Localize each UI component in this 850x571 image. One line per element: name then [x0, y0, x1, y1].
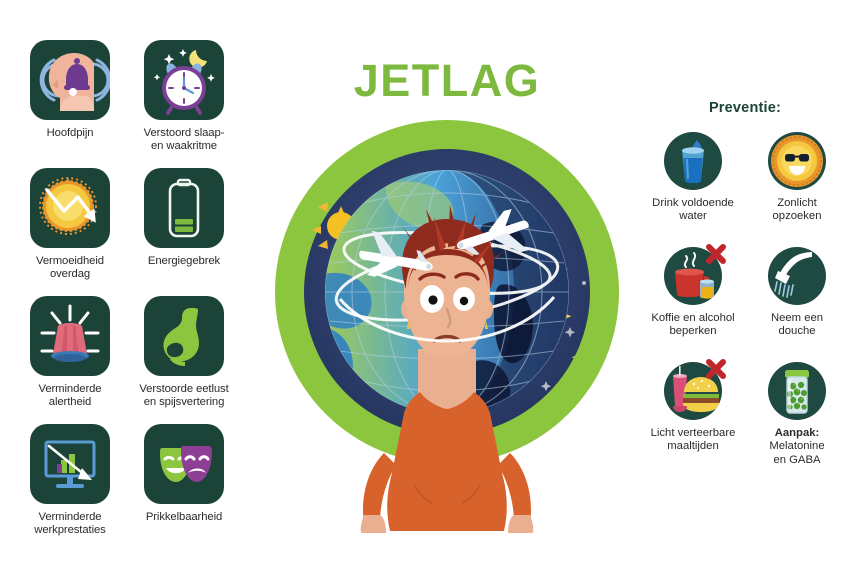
symptom-label: Vermoeidheid overdag: [20, 255, 120, 282]
red-x-icon: [704, 242, 728, 266]
prevention-label: Zonlicht opzoeken: [749, 197, 845, 224]
shower-icon: [768, 247, 826, 305]
tired-person-globe-illustration: [268, 113, 626, 533]
prevention-label: Koffie en alcohol beperken: [645, 312, 741, 339]
siren-light-icon: [30, 296, 110, 376]
symptom-label: Verstoorde eetlust en spijsvertering: [134, 383, 234, 410]
symptoms-grid: Hoofdpijn: [20, 40, 270, 540]
prevention-label: Licht verteerbare maaltijden: [645, 427, 741, 454]
symptom-label: Hoofdpijn: [20, 127, 120, 140]
prevention-grid: Drink voldoende water: [645, 132, 845, 480]
prevention-heading: Preventie:: [645, 100, 845, 116]
theatre-masks-icon: [144, 424, 224, 504]
stomach-icon: [144, 296, 224, 376]
prevention-item-douche[interactable]: Neem een douche: [749, 247, 845, 362]
prevention-item-drink-water[interactable]: Drink voldoende water: [645, 132, 741, 247]
prevention-section: Preventie: Drink vo: [645, 100, 845, 480]
prevention-label: Drink voldoende water: [645, 197, 741, 224]
sun-sunglasses-icon: [768, 132, 826, 190]
head-with-bell-icon: [30, 40, 110, 120]
prevention-label: Neem een douche: [749, 312, 845, 339]
prevention-item-koffie-alcohol[interactable]: Koffie en alcohol beperken: [645, 247, 741, 362]
prevention-item-licht-verteerbare-maaltijden[interactable]: Licht verteerbare maaltijden: [645, 362, 741, 480]
symptom-verminderde-werkprestaties[interactable]: Verminderde werkprestaties: [20, 424, 120, 552]
prevention-item-aanpak-supplementen[interactable]: Aanpak: Melatonine en GABA: [749, 362, 845, 480]
symptom-verstoord-slaapritme[interactable]: Verstoord slaap- en waakritme: [134, 40, 234, 168]
water-glass-icon: [664, 132, 722, 190]
symptom-label: Energiegebrek: [134, 255, 234, 268]
alarm-clock-night-icon: [144, 40, 224, 120]
monitor-declining-chart-icon: [30, 424, 110, 504]
coffee-alcohol-icon: [664, 247, 722, 305]
low-battery-icon: [144, 168, 224, 248]
center-hero-block: JETLAG: [262, 55, 632, 535]
infographic-canvas: Hoofdpijn: [0, 0, 850, 571]
supplement-jar-icon: [768, 362, 826, 420]
symptom-prikkelbaarheid[interactable]: Prikkelbaarheid: [134, 424, 234, 552]
prevention-label: Aanpak: Melatonine en GABA: [749, 427, 845, 467]
symptom-label: Verminderde werkprestaties: [20, 511, 120, 538]
symptom-label: Verminderde alertheid: [20, 383, 120, 410]
symptom-hoofdpijn[interactable]: Hoofdpijn: [20, 40, 120, 168]
burger-drink-icon: [664, 362, 722, 420]
symptom-energiegebrek[interactable]: Energiegebrek: [134, 168, 234, 296]
red-x-icon: [704, 357, 728, 381]
page-title: JETLAG: [262, 55, 632, 107]
symptom-verstoorde-eetlust[interactable]: Verstoorde eetlust en spijsvertering: [134, 296, 234, 424]
sun-declining-arrow-icon: [30, 168, 110, 248]
prevention-item-zonlicht[interactable]: Zonlicht opzoeken: [749, 132, 845, 247]
symptom-vermoeidheid-overdag[interactable]: Vermoeidheid overdag: [20, 168, 120, 296]
symptom-verminderde-alertheid[interactable]: Verminderde alertheid: [20, 296, 120, 424]
symptom-label: Verstoord slaap- en waakritme: [134, 127, 234, 154]
symptom-label: Prikkelbaarheid: [134, 511, 234, 524]
